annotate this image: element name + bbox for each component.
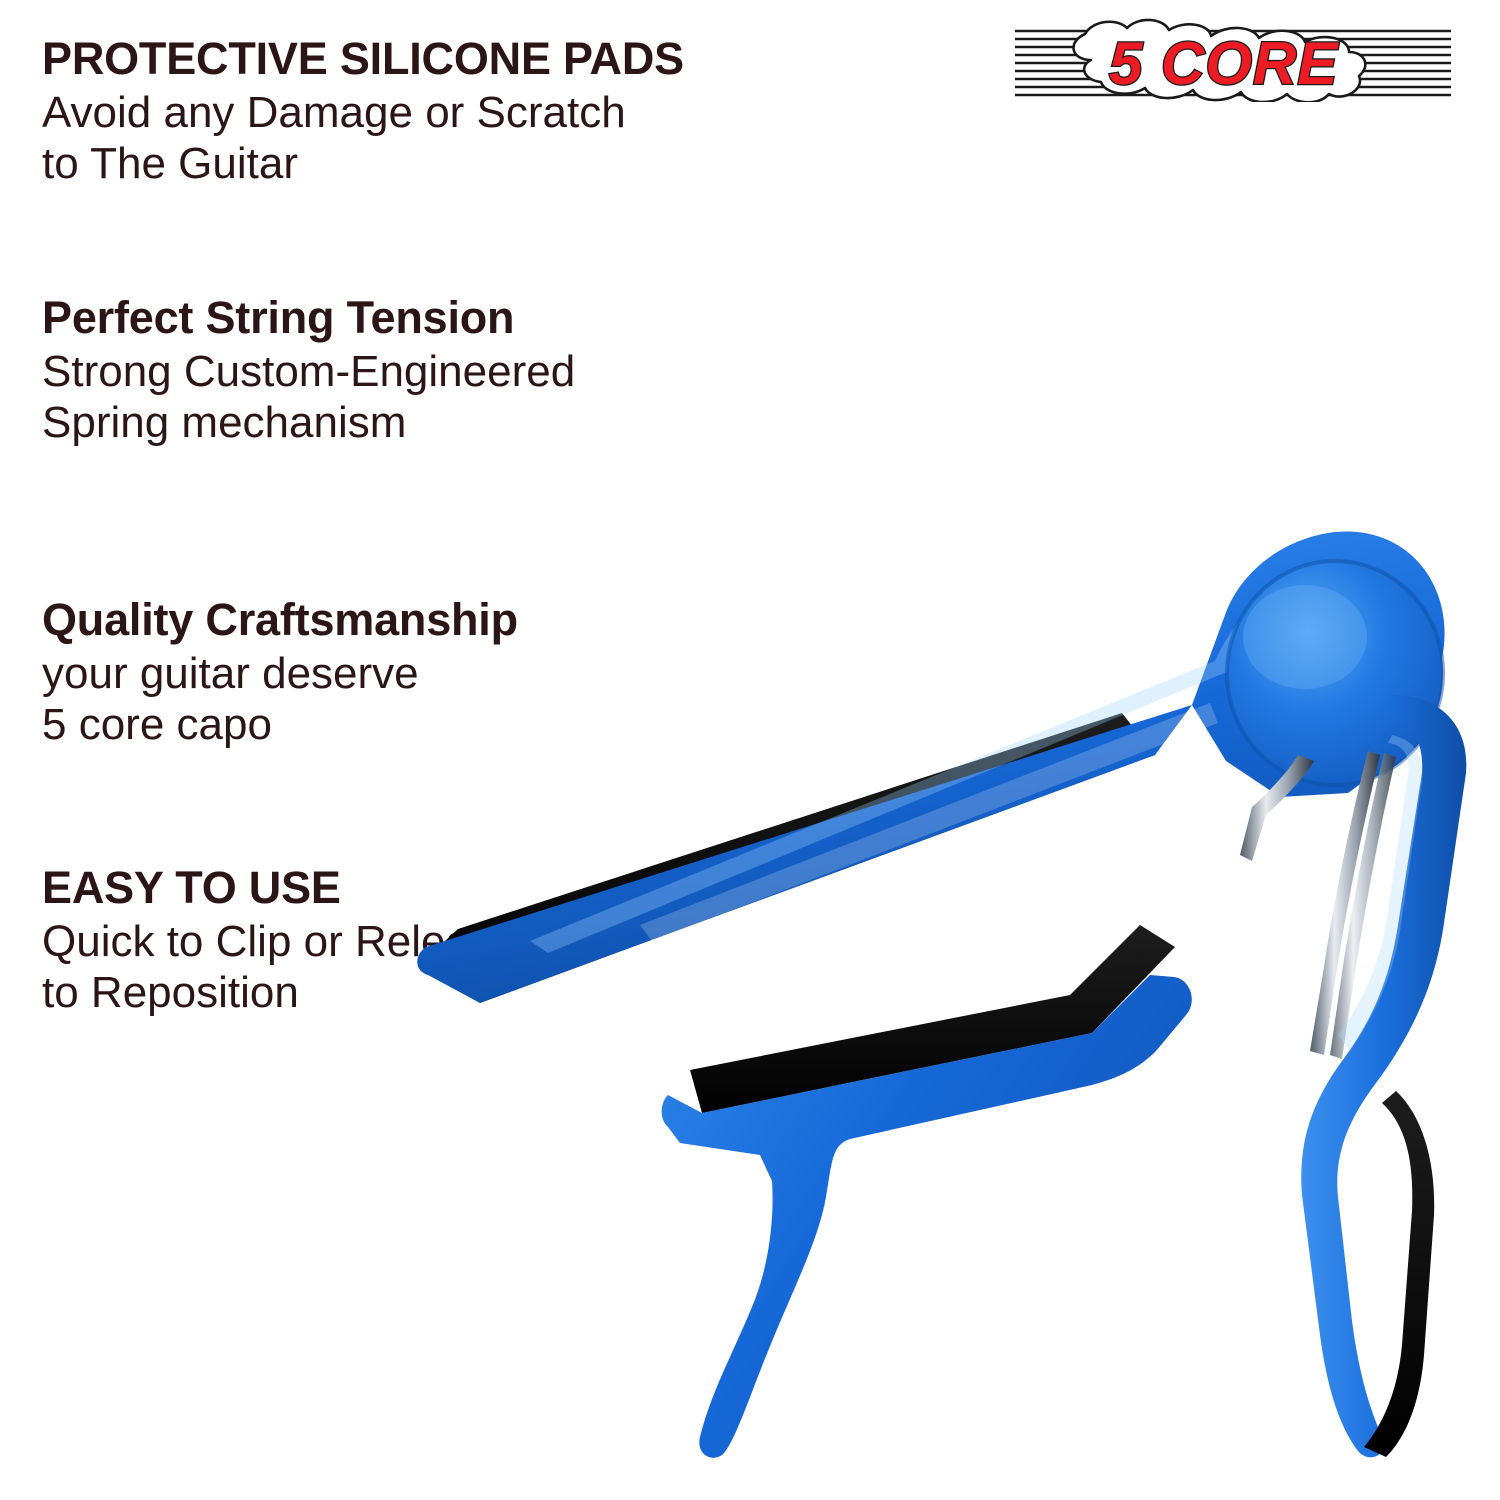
feature-block-protective-silicone-pads: PROTECTIVE SILICONE PADS Avoid any Damag… bbox=[42, 36, 684, 189]
feature-title: Perfect String Tension bbox=[42, 295, 575, 340]
feature-line: Spring mechanism bbox=[42, 397, 575, 448]
capo-upper-arm-highlight bbox=[530, 591, 1290, 953]
feature-line: Avoid any Damage or Scratch bbox=[42, 87, 684, 138]
feature-block-perfect-string-tension: Perfect String Tension Strong Custom-Eng… bbox=[42, 295, 575, 448]
logo-wordmark-text: 5 CORE bbox=[1109, 30, 1339, 97]
feature-title: PROTECTIVE SILICONE PADS bbox=[42, 36, 684, 81]
capo-upper-arm-highlight-2 bbox=[640, 703, 1218, 941]
capo-right-handle-grip-pad bbox=[1364, 1091, 1434, 1457]
feature-line: Strong Custom-Engineered bbox=[42, 346, 575, 397]
product-image-guitar-capo bbox=[380, 455, 1470, 1465]
capo-pivot-disc-highlight bbox=[1243, 585, 1367, 689]
infographic-canvas: 5 CORE PROTECTIVE SILICONE PADS Avoid an… bbox=[0, 0, 1500, 1500]
brand-logo-5-core: 5 CORE bbox=[1013, 18, 1453, 102]
feature-line: to The Guitar bbox=[42, 138, 684, 189]
